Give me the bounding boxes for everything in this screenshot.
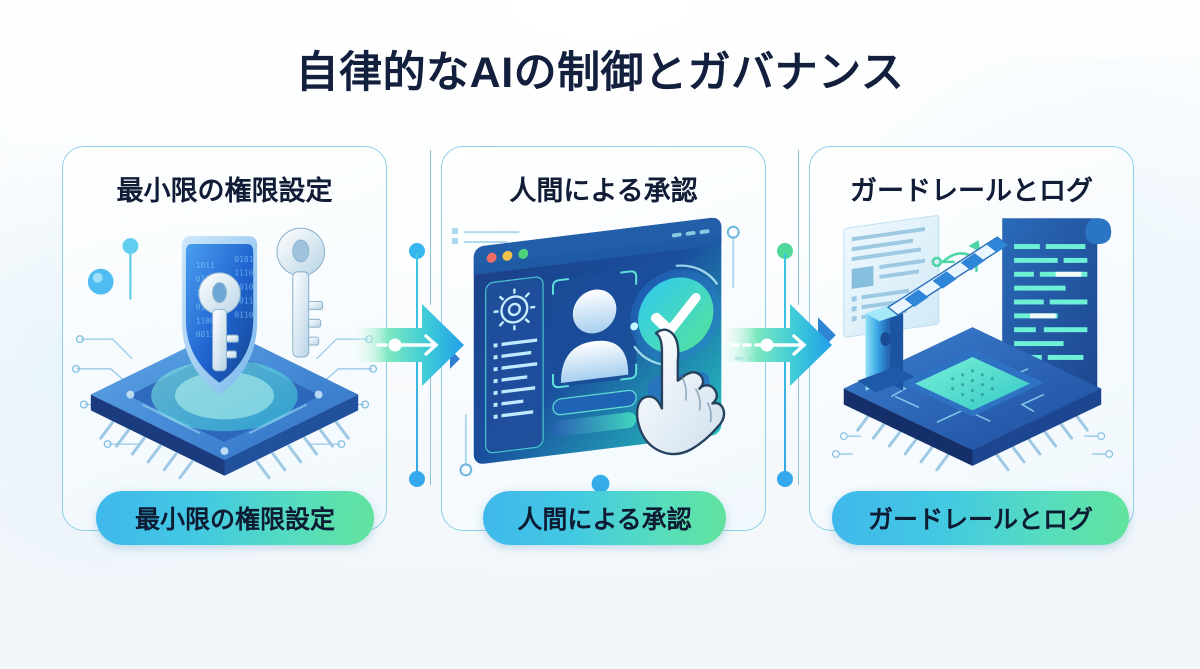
pill-label: 最小限の権限設定 xyxy=(135,500,335,536)
approval-window-illustration xyxy=(450,209,757,494)
card-guardrails-and-logs: ガードレールとログ xyxy=(809,146,1134,531)
connector-dot-bottom xyxy=(777,471,793,487)
svg-text:1110: 1110 xyxy=(234,269,253,278)
infographic-canvas: 自律的なAIの制御とガバナンス 最小限の権限設定 xyxy=(0,0,1200,669)
flow-arrow-2 xyxy=(724,300,834,395)
pill-human-approval[interactable]: 人間による承認 xyxy=(483,491,726,545)
svg-text:0110: 0110 xyxy=(234,310,253,319)
pill-label: ガードレールとログ xyxy=(868,500,1093,536)
card-human-approval: 人間による承認 xyxy=(441,146,766,531)
card-title: 最小限の権限設定 xyxy=(63,169,386,208)
card-title: 人間による承認 xyxy=(442,169,765,208)
flow-arrow-1 xyxy=(356,300,466,395)
shield-key-chip-illustration: 10110110 10010101 11000011 01011110 0010… xyxy=(71,209,378,494)
svg-text:0101: 0101 xyxy=(234,255,253,264)
connector-dot-bottom xyxy=(409,471,425,487)
pill-label: 人間による承認 xyxy=(517,500,691,536)
card-title: ガードレールとログ xyxy=(810,169,1133,208)
barrier-chip-log-illustration xyxy=(818,209,1125,494)
pill-minimum-privilege[interactable]: 最小限の権限設定 xyxy=(96,491,374,545)
svg-text:1011: 1011 xyxy=(196,261,215,270)
page-title: 自律的なAIの制御とガバナンス xyxy=(0,38,1200,100)
pill-guardrails-and-logs[interactable]: ガードレールとログ xyxy=(832,491,1129,545)
connector-rail-left-1 xyxy=(430,150,431,305)
connector-rail-right-1 xyxy=(798,150,799,305)
card-minimum-privilege: 最小限の権限設定 xyxy=(62,146,387,531)
